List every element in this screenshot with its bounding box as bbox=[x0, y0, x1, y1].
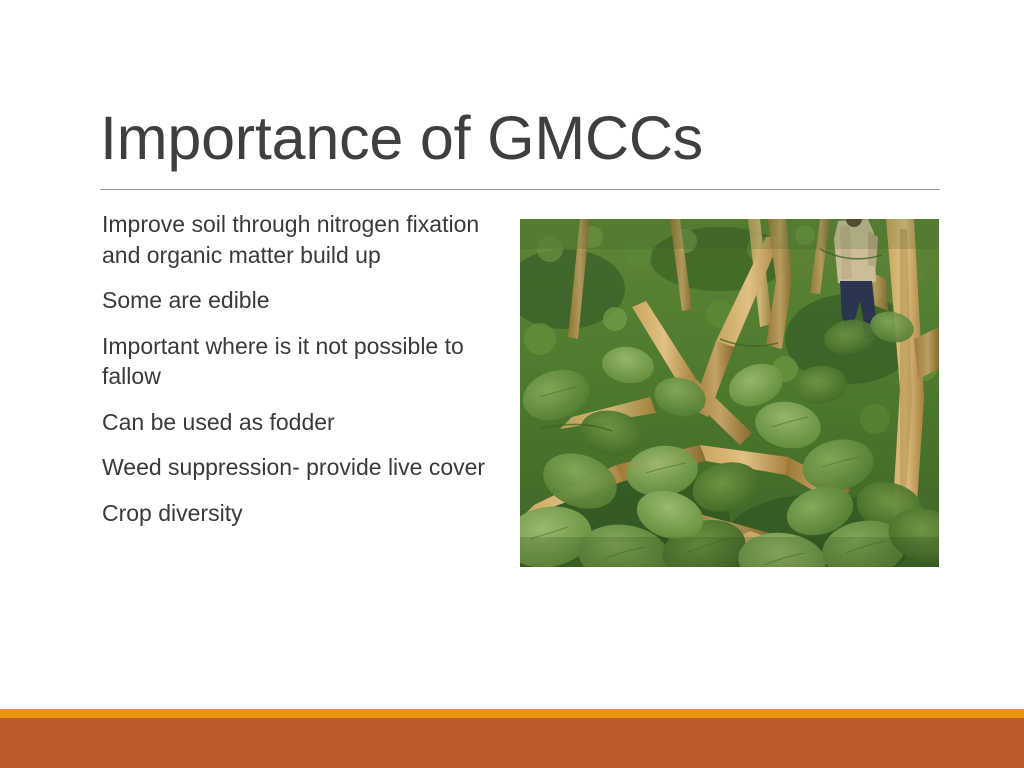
bullet-list: Improve soil through nitrogen fixation a… bbox=[102, 209, 502, 529]
title-divider bbox=[100, 189, 940, 190]
accent-band-terracotta bbox=[0, 718, 1024, 768]
accent-band-orange bbox=[0, 709, 1024, 718]
list-item: Weed suppression- provide live cover bbox=[102, 452, 502, 483]
title-block: Importance of GMCCs bbox=[100, 108, 940, 169]
presentation-slide: Importance of GMCCs Improve soil through… bbox=[0, 0, 1024, 768]
list-item: Can be used as fodder bbox=[102, 407, 502, 438]
page-title: Importance of GMCCs bbox=[100, 108, 940, 169]
list-item: Crop diversity bbox=[102, 498, 502, 529]
list-item: Important where is it not possible to fa… bbox=[102, 331, 502, 392]
list-item: Some are edible bbox=[102, 285, 502, 316]
list-item: Improve soil through nitrogen fixation a… bbox=[102, 209, 502, 270]
field-photo bbox=[520, 219, 939, 567]
